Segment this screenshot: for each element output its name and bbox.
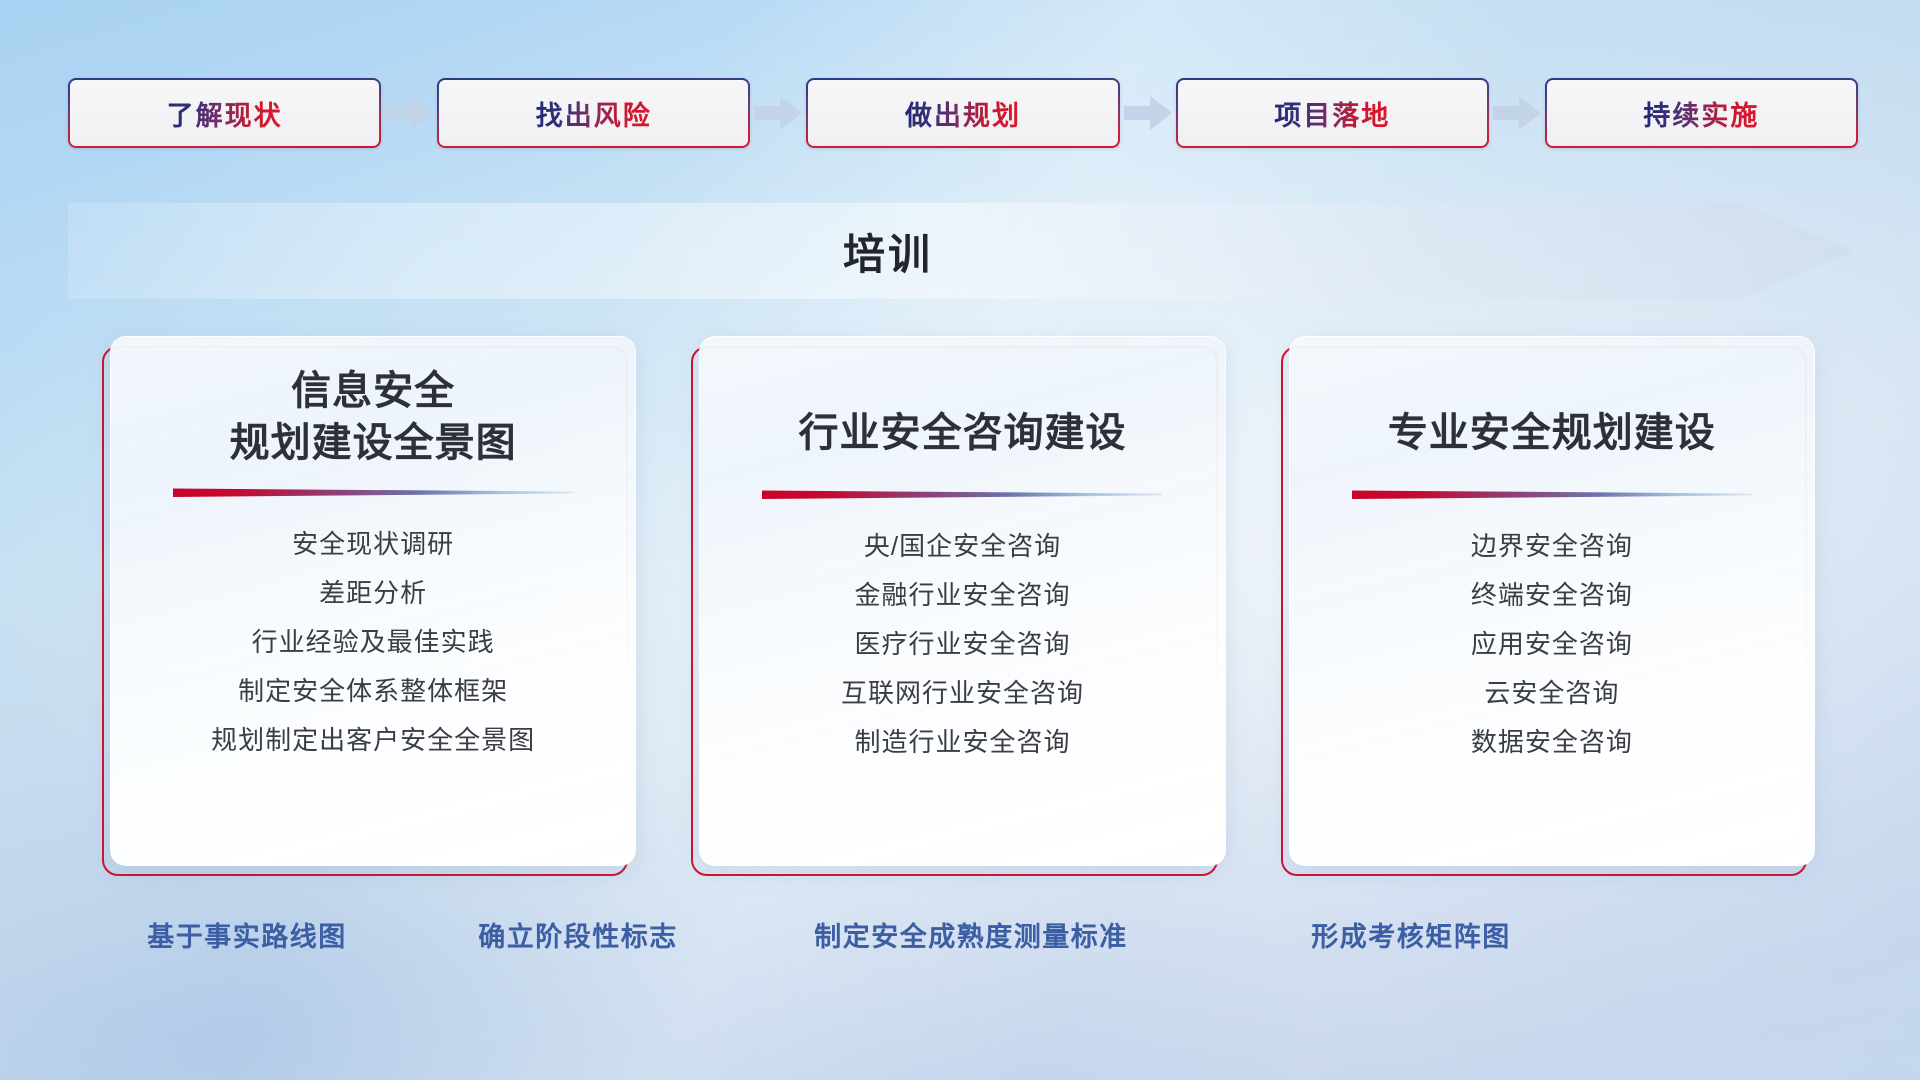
right-arrow-icon <box>1120 85 1176 141</box>
right-arrow-icon <box>750 85 806 141</box>
service-card-3[interactable]: 专业安全规划建设 <box>1289 336 1815 866</box>
list-item: 央/国企安全咨询 <box>864 527 1061 566</box>
process-step-4-inner: 项目落地 <box>1178 80 1487 146</box>
list-item: 终端安全咨询 <box>1471 576 1633 615</box>
card-2-title: 行业安全咨询建设 <box>700 407 1224 459</box>
card-2-list: 央/国企安全咨询 金融行业安全咨询 医疗行业安全咨询 互联网行业安全咨询 制造行… <box>700 527 1224 762</box>
list-item: 规划制定出客户安全全景图 <box>211 721 535 760</box>
list-item: 边界安全咨询 <box>1471 527 1633 566</box>
right-arrow-icon <box>381 85 437 141</box>
service-card-group: 信息安全 规划建设全景图 <box>110 336 1815 866</box>
process-step-5-label: 持续实施 <box>1643 94 1759 133</box>
list-item: 应用安全咨询 <box>1471 625 1633 664</box>
list-item: 互联网行业安全咨询 <box>841 674 1084 713</box>
process-step-3-inner: 做出规划 <box>808 80 1117 146</box>
outcome-label-1: 基于事实路线图 <box>147 915 347 954</box>
training-banner: 培训 <box>68 197 1858 305</box>
process-step-4[interactable]: 项目落地 <box>1176 78 1489 148</box>
process-step-1-label: 了解现状 <box>167 94 283 133</box>
list-item: 金融行业安全咨询 <box>854 576 1070 615</box>
card-3-list: 边界安全咨询 终端安全咨询 应用安全咨询 云安全咨询 数据安全咨询 <box>1290 527 1814 762</box>
process-step-2[interactable]: 找出风险 <box>437 78 750 148</box>
service-card-1[interactable]: 信息安全 规划建设全景图 <box>110 336 636 866</box>
list-item: 医疗行业安全咨询 <box>854 625 1070 664</box>
process-step-1-inner: 了解现状 <box>70 80 379 146</box>
list-item: 制定安全体系整体框架 <box>238 672 508 711</box>
outcome-label-2: 确立阶段性标志 <box>478 915 678 954</box>
service-card-2[interactable]: 行业安全咨询建设 <box>699 336 1225 866</box>
list-item: 差距分析 <box>319 574 427 613</box>
card-2-surface: 行业安全咨询建设 <box>699 336 1225 866</box>
list-item: 数据安全咨询 <box>1471 723 1633 762</box>
card-2-divider <box>762 489 1162 501</box>
card-1-surface: 信息安全 规划建设全景图 <box>110 336 636 866</box>
right-arrow-icon <box>1489 85 1545 141</box>
process-step-3-label: 做出规划 <box>905 94 1021 133</box>
process-step-5-inner: 持续实施 <box>1547 80 1856 146</box>
list-item: 制造行业安全咨询 <box>854 723 1070 762</box>
process-step-3[interactable]: 做出规划 <box>806 78 1119 148</box>
card-3-title: 专业安全规划建设 <box>1290 407 1814 459</box>
slide-canvas: 了解现状 找出风险 做出规划 <box>0 0 1920 1080</box>
process-step-4-label: 项目落地 <box>1274 94 1390 133</box>
outcome-label-row: 基于事实路线图 确立阶段性标志 制定安全成熟度测量标准 形成考核矩阵图 <box>0 915 1920 965</box>
process-step-5[interactable]: 持续实施 <box>1545 78 1858 148</box>
process-step-1[interactable]: 了解现状 <box>68 78 381 148</box>
list-item: 安全现状调研 <box>292 525 454 564</box>
card-1-divider <box>173 487 573 499</box>
outcome-label-4: 形成考核矩阵图 <box>1311 915 1511 954</box>
training-banner-label: 培训 <box>68 197 1858 305</box>
process-step-row: 了解现状 找出风险 做出规划 <box>68 78 1858 148</box>
process-step-2-inner: 找出风险 <box>439 80 748 146</box>
card-3-surface: 专业安全规划建设 <box>1289 336 1815 866</box>
card-1-title: 信息安全 规划建设全景图 <box>111 365 635 469</box>
process-step-2-label: 找出风险 <box>536 94 652 133</box>
list-item: 行业经验及最佳实践 <box>252 623 495 662</box>
list-item: 云安全咨询 <box>1484 674 1619 713</box>
outcome-label-3: 制定安全成熟度测量标准 <box>814 915 1128 954</box>
card-1-list: 安全现状调研 差距分析 行业经验及最佳实践 制定安全体系整体框架 规划制定出客户… <box>111 525 635 760</box>
card-3-divider <box>1352 489 1752 501</box>
